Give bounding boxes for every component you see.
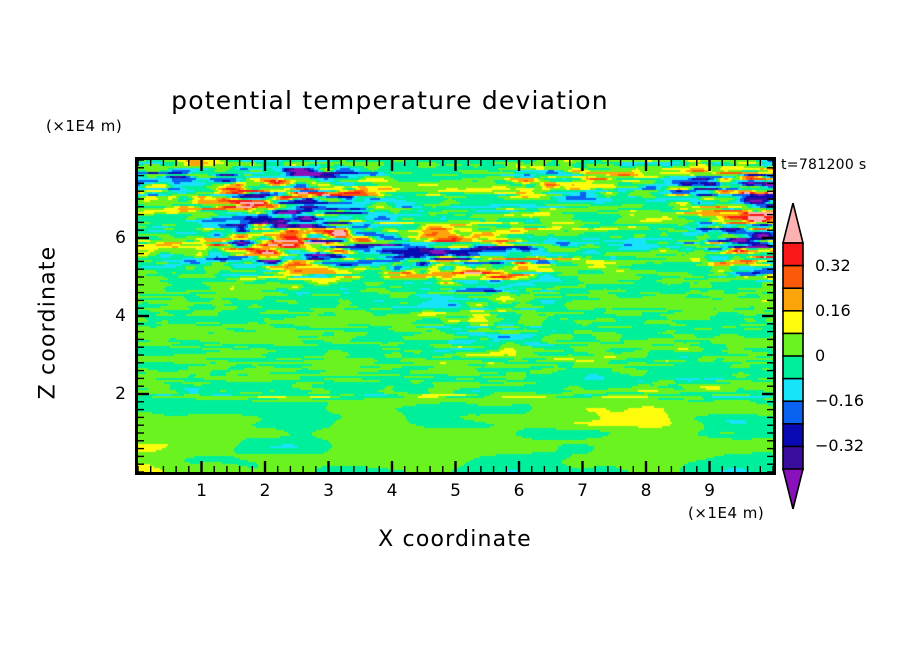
x-tick-label: 4 [377,481,407,501]
colorbar-tick-label: 0.16 [815,301,851,320]
x-tick-label: 6 [504,481,534,501]
x-tick-label: 2 [250,481,280,501]
colorbar-tick-label: 0.32 [815,256,851,275]
colorbar-band [783,333,803,356]
contour-field-canvas [138,160,773,472]
simulation-time-annotation: t=781200 s [781,157,866,173]
colorbar-tick-label: 0 [815,346,825,365]
colorbar-band [783,311,803,334]
x-tick-label: 7 [568,481,598,501]
colorbar-under-arrow [783,469,803,509]
colorbar-band [783,379,803,402]
colorbar-band [783,288,803,311]
page-title: potential temperature deviation [0,86,780,115]
x-tick-label: 9 [695,481,725,501]
colorbar-band [783,446,803,469]
figure-root: potential temperature deviation (×1E4 m)… [0,0,904,654]
x-tick-label: 3 [314,481,344,501]
contour-plot-area [135,157,776,475]
colorbar-band [783,401,803,424]
colorbar-over-arrow [783,203,803,243]
colorbar-band [783,266,803,289]
colorbar-band [783,424,803,447]
y-axis-units-label: (×1E4 m) [46,117,122,135]
x-tick-label: 5 [441,481,471,501]
x-axis-units-label: (×1E4 m) [688,504,764,522]
x-tick-label: 8 [631,481,661,501]
x-axis-title: X coordinate [135,527,775,552]
colorbar-tick-label: −0.32 [815,436,864,455]
colorbar-tick-label: −0.16 [815,391,864,410]
y-tick-label: 2 [100,384,126,404]
colorbar [779,203,809,509]
y-tick-label: 6 [100,228,126,248]
y-axis-title: Z coordinate [36,223,61,423]
x-tick-label: 1 [187,481,217,501]
colorbar-band [783,243,803,266]
colorbar-band [783,356,803,379]
y-tick-label: 4 [100,306,126,326]
